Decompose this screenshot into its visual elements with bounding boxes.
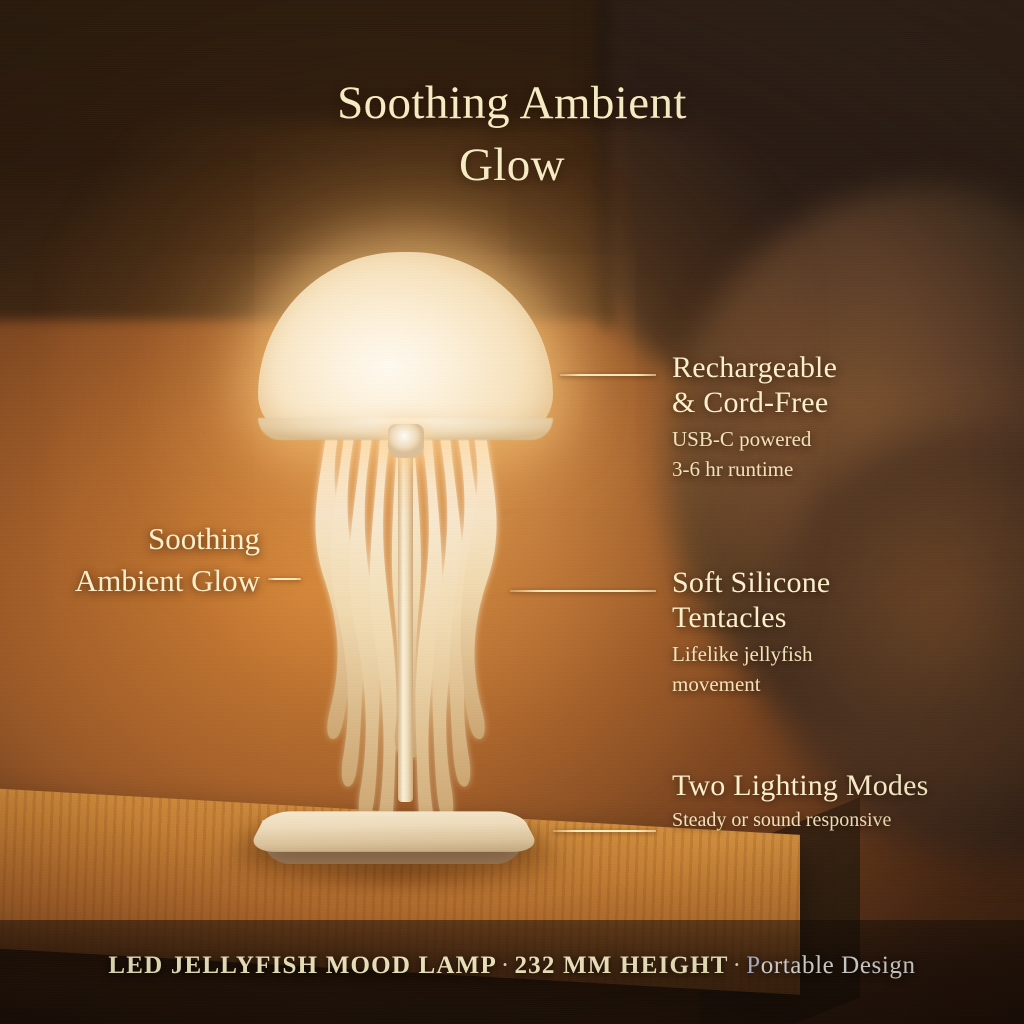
lamp-cast-shadow (180, 845, 620, 899)
callout-rechargeable-sub-1: USB-C powered (672, 425, 1002, 455)
caption-tagline-initial: P (746, 952, 761, 979)
title-line-2: Glow (0, 134, 1024, 196)
caption-spec: 232 MM HEIGHT (514, 952, 728, 979)
caption-separator-1: · (497, 952, 515, 979)
leader-line-tentacles (510, 590, 656, 592)
callout-tentacles: Soft Silicone Tentacles Lifelike jellyfi… (672, 565, 1002, 700)
page-title: Soothing Ambient Glow (0, 72, 1024, 196)
leader-line-rechargeable (560, 374, 656, 376)
callout-lighting-modes-heading-1: Two Lighting Modes (672, 768, 1012, 803)
caption-separator-2: · (729, 952, 747, 979)
callout-rechargeable-heading-1: Rechargeable (672, 350, 1002, 385)
caption-tagline: Portable Design (746, 952, 915, 979)
callout-ambient-glow-line-1: Soothing (10, 518, 260, 560)
caption-product: LED JELLYFISH MOOD LAMP (108, 952, 497, 979)
product-infographic: Soothing Ambient Glow Soothing Ambient G… (0, 0, 1024, 1024)
callout-lighting-modes: Two Lighting Modes Steady or sound respo… (672, 768, 1012, 834)
leader-line-ambient-glow (268, 578, 301, 580)
callout-tentacles-heading-2: Tentacles (672, 600, 1002, 635)
callout-ambient-glow: Soothing Ambient Glow (10, 518, 260, 601)
callout-tentacles-sub-1: Lifelike jellyfish (672, 640, 1002, 670)
leader-line-lighting-modes (553, 830, 656, 832)
callout-rechargeable-sub-2: 3-6 hr runtime (672, 455, 1002, 485)
callout-tentacles-heading-1: Soft Silicone (672, 565, 1002, 600)
caption: LED JELLYFISH MOOD LAMP·232 MM HEIGHT·Po… (0, 952, 1024, 980)
title-line-1: Soothing Ambient (0, 72, 1024, 134)
callout-tentacles-sub-2: movement (672, 670, 1002, 700)
callout-lighting-modes-sub-1: Steady or sound responsive (672, 806, 1012, 834)
callout-ambient-glow-line-2: Ambient Glow (10, 560, 260, 602)
callout-rechargeable: Rechargeable & Cord-Free USB-C powered 3… (672, 350, 1002, 485)
caption-tagline-rest: ortable Design (761, 952, 916, 979)
callout-rechargeable-heading-2: & Cord-Free (672, 385, 1002, 420)
